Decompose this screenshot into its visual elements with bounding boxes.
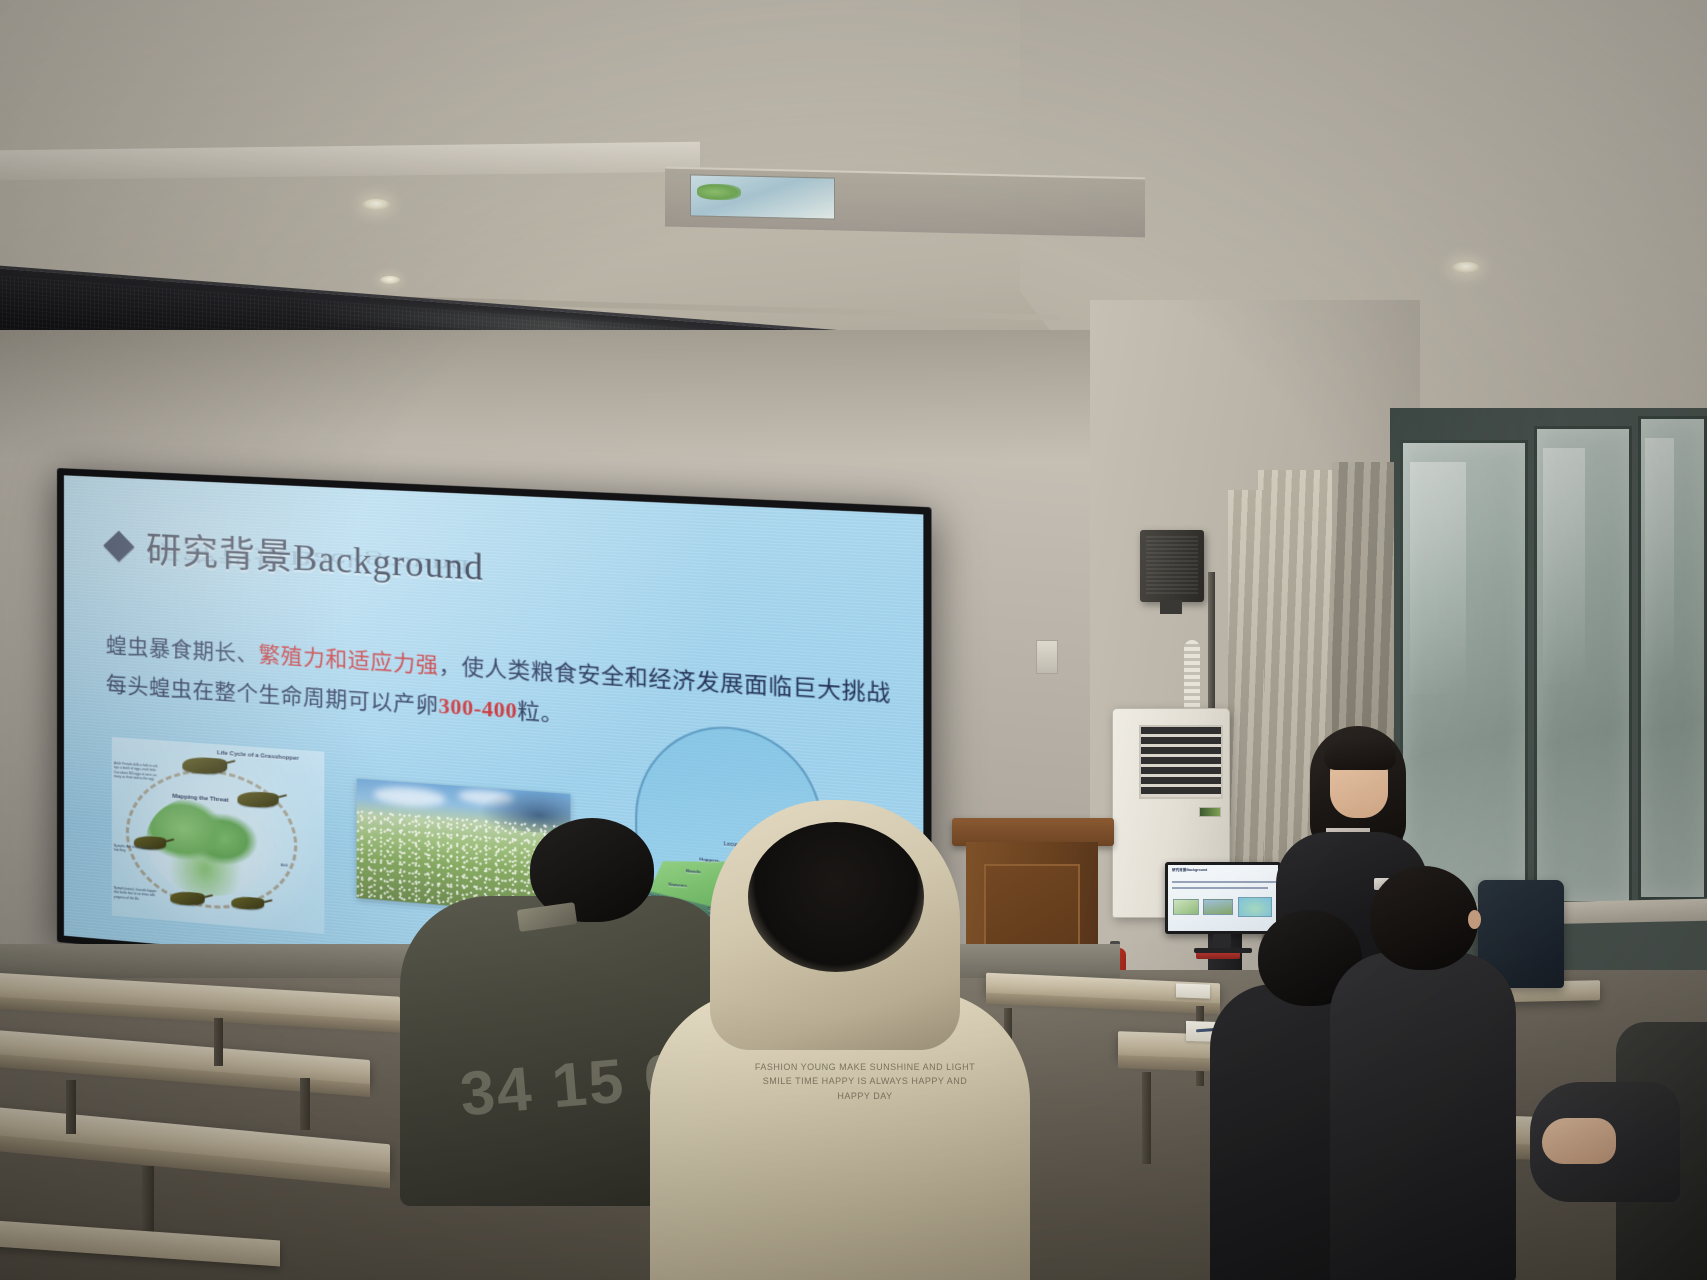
desk-right-2-leg-a <box>1142 1072 1151 1164</box>
audience-right-b-head <box>1370 866 1478 970</box>
desk-leg-2 <box>66 1080 76 1134</box>
window-pane-2 <box>1534 426 1632 904</box>
monitor-text-line-1 <box>1172 881 1276 883</box>
desk-leg-1 <box>214 1018 223 1066</box>
audience-right-b-coat <box>1330 952 1516 1280</box>
curtain-edge <box>1228 490 1264 910</box>
ceiling-skylight <box>690 174 835 219</box>
line2-seg2-number: 300-400 <box>439 693 518 723</box>
life-cycle-caption-1: Adult: Female drills a hole in soil, lay… <box>114 761 158 782</box>
coat-back-print: FASHION YOUNG MAKE SUNSHINE AND LIGHT SM… <box>750 1060 980 1103</box>
wall-shadow <box>0 330 1180 460</box>
audience-right-c-hand <box>1542 1118 1616 1164</box>
speaker-mount-bracket <box>1160 600 1182 614</box>
classroom-scene: 研究背景Background 研究背景Background 蝗虫暴食期长、繁殖力… <box>0 0 1707 1280</box>
life-cycle-diagram: Life Cycle of a Grasshopper Mapping the … <box>112 737 324 934</box>
downlight-1 <box>362 199 390 210</box>
paper-document-2 <box>1176 983 1210 998</box>
wall-cable-conduit <box>1208 572 1215 717</box>
downlight-2 <box>380 276 400 284</box>
grasshopper-egg-stage-icon <box>231 896 264 911</box>
monitor-slide-title: 研究背景Background <box>1172 868 1207 873</box>
monitor-text-line-2 <box>1172 887 1268 889</box>
audience-right-c <box>1530 1022 1707 1280</box>
ac-drain-pipe <box>1184 640 1200 716</box>
audience-right-b-ear <box>1468 910 1481 929</box>
line2-seg3: 粒。 <box>517 698 564 726</box>
line1-seg1: 蝗虫暴食期长、 <box>106 633 259 667</box>
audience-front-middle: FASHION YOUNG MAKE SUNSHINE AND LIGHT SM… <box>630 800 1030 1280</box>
line1-seg2-highlight: 繁殖力和适应力强 <box>259 642 439 678</box>
audience-front-middle-hood-opening <box>748 822 924 972</box>
diamond-bullet-icon <box>103 530 134 561</box>
wall-speaker <box>1140 530 1204 602</box>
monitor-thumb-1 <box>1173 899 1199 915</box>
presenter-fringe <box>1324 736 1396 770</box>
grasshopper-juvenile-icon <box>170 890 205 906</box>
life-cycle-caption-3: Nymph (instar): Juvenile hopper that mol… <box>114 886 158 903</box>
ac-grille <box>1139 725 1223 799</box>
downlight-3 <box>1452 262 1480 273</box>
ac-display-panel[interactable] <box>1199 807 1221 817</box>
desk-leg-3 <box>300 1078 310 1130</box>
audience-right-b <box>1330 866 1516 1280</box>
window-pane-3 <box>1638 416 1707 900</box>
cloud-1 <box>373 785 445 809</box>
wall-control-panel[interactable] <box>1036 640 1058 674</box>
